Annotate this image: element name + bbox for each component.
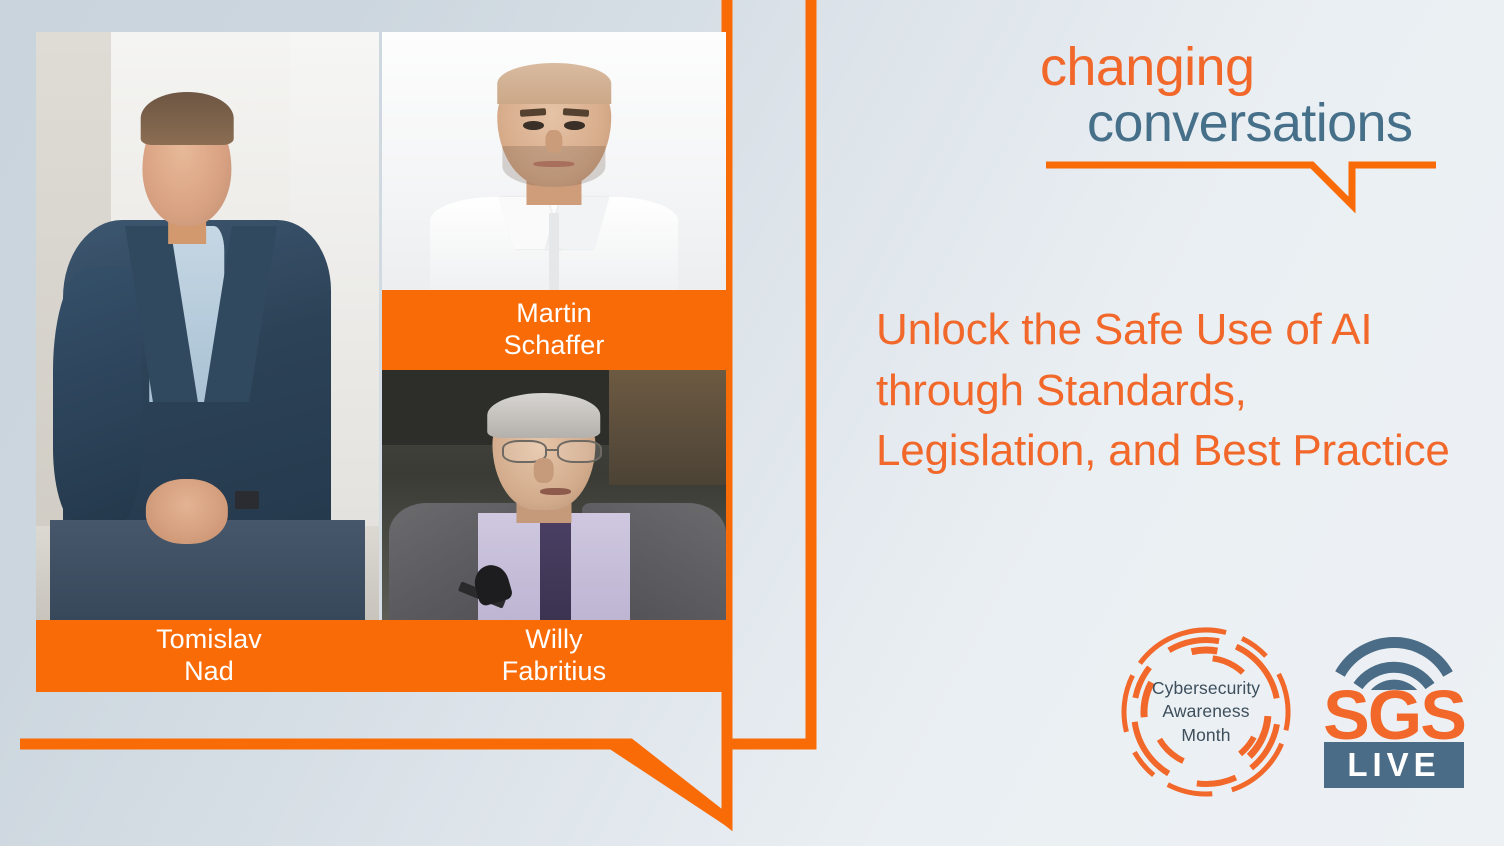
photo-watch	[235, 491, 259, 510]
photo-nose	[545, 130, 562, 153]
speaker-last-name: Schaffer	[504, 330, 605, 362]
photo-mouth	[533, 161, 574, 167]
photo-placket	[549, 213, 559, 290]
cybersecurity-badge-text: Cybersecurity Awareness Month	[1118, 624, 1294, 800]
live-wordmark: LIVE	[1347, 746, 1440, 784]
cyber-line-2: Awareness	[1162, 700, 1249, 723]
photo-background-warm	[609, 370, 726, 485]
page-title: Unlock the Safe Use of AI through Standa…	[876, 300, 1476, 482]
nameplate-martin-schaffer: Martin Schaffer	[382, 290, 726, 370]
logo-word-conversations: conversations	[1040, 95, 1462, 151]
speaker-last-name: Fabritius	[502, 656, 606, 688]
photo-glasses-bridge	[547, 449, 557, 451]
photo-eye-right	[564, 121, 585, 130]
photo-hair	[487, 393, 601, 438]
photo-nose	[533, 458, 554, 483]
nameplate-row-bottom: Tomislav Nad Willy Fabritius	[36, 620, 726, 692]
nameplate-tomislav-nad: Tomislav Nad	[36, 624, 382, 687]
photo-glasses-right	[557, 440, 602, 463]
cybersecurity-awareness-month-badge: Cybersecurity Awareness Month	[1118, 624, 1294, 800]
speaker-first-name: Tomislav	[156, 624, 262, 656]
photo-willy-fabritius	[382, 370, 726, 620]
photo-scalp	[497, 63, 611, 104]
sgs-live-logo: SGS LIVE	[1314, 632, 1474, 792]
nameplate-willy-fabritius: Willy Fabritius	[382, 624, 726, 687]
changing-conversations-logo: changing conversations	[1040, 40, 1462, 219]
speaker-first-name: Willy	[525, 624, 582, 656]
photo-hands	[146, 479, 228, 544]
photo-martin-schaffer	[382, 32, 726, 290]
cyber-line-3: Month	[1181, 724, 1230, 747]
logo-word-changing: changing	[1040, 40, 1462, 95]
photo-eye-left	[523, 121, 544, 130]
sgs-wordmark: SGS	[1314, 680, 1474, 750]
photo-hair	[141, 92, 234, 145]
speaker-photo-collage: Martin Schaffer Tomislav Nad Willy Fabri…	[36, 32, 726, 692]
speaker-last-name: Nad	[184, 656, 234, 688]
logo-underline-bubble-tail	[1040, 159, 1462, 219]
live-bar: LIVE	[1324, 742, 1464, 788]
speaker-first-name: Martin	[516, 298, 592, 330]
photo-tomislav-nad	[36, 32, 379, 620]
photo-tie	[540, 520, 571, 620]
photo-arm-left	[53, 267, 142, 526]
cyber-line-1: Cybersecurity	[1152, 677, 1260, 700]
photo-mouth	[540, 488, 571, 496]
badge-row: Cybersecurity Awareness Month SGS LIVE	[1118, 620, 1478, 800]
